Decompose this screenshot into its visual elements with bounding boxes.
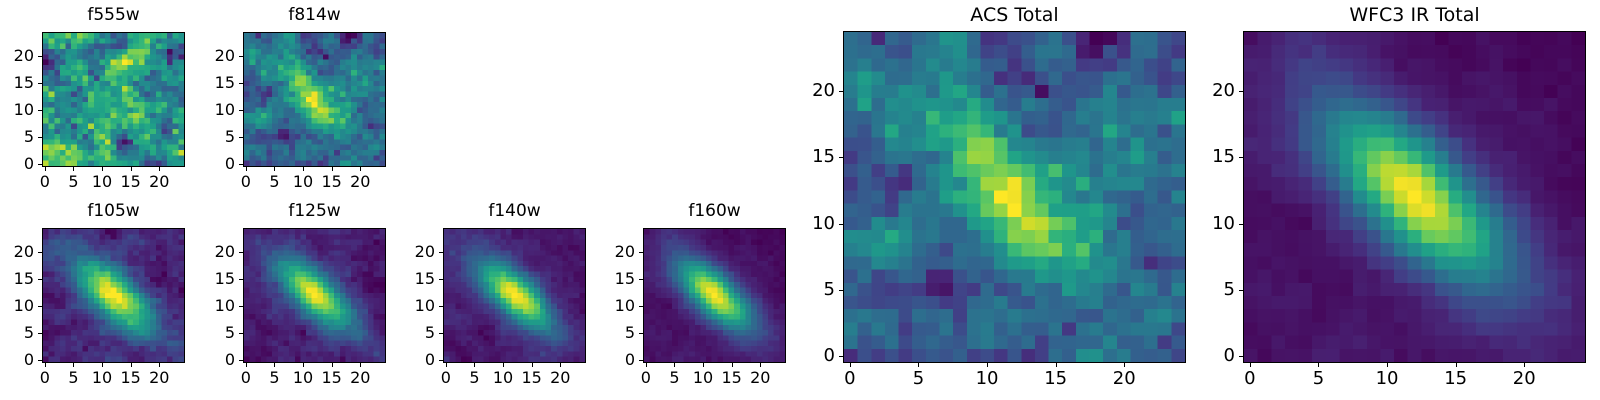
heatmap-image (244, 33, 385, 166)
y-tick-label: 10 (183, 102, 235, 118)
y-tick-mark (38, 279, 42, 280)
y-tick-label: 20 (583, 244, 635, 260)
x-tick-mark (73, 363, 74, 367)
x-tick-mark (474, 363, 475, 367)
x-tick-label: 15 (321, 174, 341, 190)
panel-title: f160w (643, 203, 786, 220)
y-tick-mark (639, 306, 643, 307)
x-tick-label: 15 (521, 370, 541, 386)
x-tick-label: 15 (1044, 370, 1067, 388)
x-tick-label: 0 (641, 370, 651, 386)
y-tick-mark (439, 306, 443, 307)
x-tick-mark (987, 363, 988, 367)
y-tick-mark (239, 306, 243, 307)
x-tick-mark (446, 363, 447, 367)
y-tick-mark (239, 360, 243, 361)
x-tick-mark (360, 363, 361, 367)
panel-title: f105w (42, 203, 185, 220)
y-tick-label: 5 (583, 325, 635, 341)
x-tick-mark (246, 363, 247, 367)
x-tick-label: 0 (1244, 370, 1255, 388)
y-tick-mark (239, 252, 243, 253)
x-tick-mark (560, 363, 561, 367)
heatmap-axes (42, 32, 185, 167)
y-tick-mark (1239, 157, 1243, 158)
y-tick-mark (38, 110, 42, 111)
y-tick-mark (239, 110, 243, 111)
y-tick-label: 20 (783, 82, 835, 100)
y-tick-label: 0 (783, 347, 835, 365)
y-tick-label: 10 (183, 298, 235, 314)
y-tick-mark (239, 83, 243, 84)
y-tick-mark (239, 333, 243, 334)
y-tick-label: 5 (183, 325, 235, 341)
y-tick-label: 0 (1183, 347, 1235, 365)
y-tick-mark (1239, 224, 1243, 225)
x-tick-label: 10 (293, 174, 313, 190)
x-tick-label: 0 (241, 370, 251, 386)
x-tick-label: 10 (976, 370, 999, 388)
heatmap-image (244, 229, 385, 362)
x-tick-label: 20 (149, 370, 169, 386)
y-tick-label: 10 (0, 298, 34, 314)
y-tick-label: 5 (183, 129, 235, 145)
x-tick-mark (1387, 363, 1388, 367)
panel-title: f555w (42, 7, 185, 24)
panel-title: f814w (243, 7, 386, 24)
y-tick-label: 15 (183, 271, 235, 287)
y-tick-mark (439, 279, 443, 280)
x-tick-label: 20 (750, 370, 770, 386)
x-tick-mark (274, 363, 275, 367)
y-tick-label: 0 (183, 352, 235, 368)
y-tick-label: 15 (583, 271, 635, 287)
x-tick-mark (45, 363, 46, 367)
y-tick-label: 5 (0, 325, 34, 341)
x-tick-label: 10 (693, 370, 713, 386)
figure-canvas: f555w0510152005101520f814w05101520051015… (0, 0, 1600, 400)
panel-title: WFC3 IR Total (1243, 6, 1586, 25)
heatmap-axes (42, 228, 185, 363)
x-tick-label: 0 (441, 370, 451, 386)
x-tick-label: 10 (92, 174, 112, 190)
heatmap-axes (243, 32, 386, 167)
x-tick-mark (1124, 363, 1125, 367)
x-tick-mark (1250, 363, 1251, 367)
x-tick-mark (732, 363, 733, 367)
y-tick-label: 20 (383, 244, 435, 260)
y-tick-mark (38, 360, 42, 361)
y-tick-label: 10 (0, 102, 34, 118)
y-tick-label: 0 (0, 352, 34, 368)
heatmap-image (43, 33, 184, 166)
heatmap-axes (643, 228, 786, 363)
x-tick-mark (360, 167, 361, 171)
y-tick-mark (439, 252, 443, 253)
y-tick-mark (439, 360, 443, 361)
x-tick-label: 10 (293, 370, 313, 386)
x-tick-label: 20 (350, 370, 370, 386)
x-tick-mark (159, 167, 160, 171)
x-tick-mark (1318, 363, 1319, 367)
y-tick-label: 0 (383, 352, 435, 368)
x-tick-label: 5 (669, 370, 679, 386)
x-tick-mark (246, 167, 247, 171)
y-tick-label: 15 (383, 271, 435, 287)
y-tick-label: 10 (783, 215, 835, 233)
y-tick-label: 0 (0, 156, 34, 172)
y-tick-mark (1239, 356, 1243, 357)
y-tick-label: 20 (183, 48, 235, 64)
panel-acs-total: ACS Total0510152005101520 (783, 3, 1186, 397)
x-tick-mark (131, 167, 132, 171)
heatmap-image (1244, 32, 1585, 362)
y-tick-mark (639, 333, 643, 334)
x-tick-mark (760, 363, 761, 367)
panel-f125w: f125w0510152005101520 (183, 200, 386, 397)
x-tick-mark (303, 167, 304, 171)
x-tick-mark (918, 363, 919, 367)
x-tick-label: 5 (269, 174, 279, 190)
y-tick-label: 5 (783, 281, 835, 299)
y-tick-label: 5 (383, 325, 435, 341)
panel-f814w: f814w0510152005101520 (183, 4, 386, 201)
x-tick-mark (532, 363, 533, 367)
x-tick-mark (674, 363, 675, 367)
y-tick-label: 20 (183, 244, 235, 260)
x-tick-mark (1456, 363, 1457, 367)
y-tick-mark (38, 56, 42, 57)
x-tick-label: 10 (1376, 370, 1399, 388)
x-tick-label: 20 (550, 370, 570, 386)
heatmap-image (43, 229, 184, 362)
y-tick-mark (839, 224, 843, 225)
y-tick-mark (38, 306, 42, 307)
x-tick-mark (332, 167, 333, 171)
x-tick-label: 10 (92, 370, 112, 386)
heatmap-image (844, 32, 1185, 362)
y-tick-mark (439, 333, 443, 334)
x-tick-label: 5 (469, 370, 479, 386)
y-tick-mark (38, 252, 42, 253)
x-tick-mark (703, 363, 704, 367)
y-tick-mark (38, 137, 42, 138)
heatmap-axes (443, 228, 586, 363)
x-tick-label: 0 (241, 174, 251, 190)
y-tick-mark (839, 356, 843, 357)
heatmap-axes (1243, 31, 1586, 363)
y-tick-mark (839, 290, 843, 291)
x-tick-label: 20 (350, 174, 370, 190)
panel-f105w: f105w0510152005101520 (0, 200, 185, 397)
panel-title: ACS Total (843, 6, 1186, 25)
x-tick-mark (303, 363, 304, 367)
x-tick-label: 5 (913, 370, 924, 388)
y-tick-label: 10 (583, 298, 635, 314)
y-tick-mark (839, 91, 843, 92)
y-tick-label: 10 (383, 298, 435, 314)
x-tick-label: 15 (1444, 370, 1467, 388)
panel-wfc3-ir-total: WFC3 IR Total0510152005101520 (1183, 3, 1586, 397)
x-tick-mark (503, 363, 504, 367)
panel-f140w: f140w0510152005101520 (383, 200, 586, 397)
x-tick-label: 5 (68, 370, 78, 386)
y-tick-label: 15 (783, 148, 835, 166)
y-tick-mark (1239, 290, 1243, 291)
y-tick-mark (239, 279, 243, 280)
x-tick-mark (850, 363, 851, 367)
y-tick-mark (839, 157, 843, 158)
heatmap-image (644, 229, 785, 362)
x-tick-mark (45, 167, 46, 171)
x-tick-label: 15 (721, 370, 741, 386)
y-tick-mark (239, 137, 243, 138)
panel-title: f125w (243, 203, 386, 220)
y-tick-mark (38, 333, 42, 334)
y-tick-mark (38, 83, 42, 84)
x-tick-mark (332, 363, 333, 367)
x-tick-mark (159, 363, 160, 367)
x-tick-label: 20 (1113, 370, 1136, 388)
x-tick-label: 0 (40, 370, 50, 386)
x-tick-label: 10 (493, 370, 513, 386)
x-tick-label: 15 (321, 370, 341, 386)
x-tick-label: 15 (120, 174, 140, 190)
heatmap-axes (243, 228, 386, 363)
y-tick-label: 0 (583, 352, 635, 368)
x-tick-mark (131, 363, 132, 367)
x-tick-mark (274, 167, 275, 171)
panel-title: f140w (443, 203, 586, 220)
x-tick-label: 0 (40, 174, 50, 190)
y-tick-label: 5 (1183, 281, 1235, 299)
x-tick-label: 15 (120, 370, 140, 386)
y-tick-label: 15 (0, 271, 34, 287)
y-tick-label: 10 (1183, 215, 1235, 233)
y-tick-mark (38, 164, 42, 165)
y-tick-label: 5 (0, 129, 34, 145)
x-tick-label: 20 (149, 174, 169, 190)
x-tick-label: 20 (1513, 370, 1536, 388)
x-tick-label: 5 (1313, 370, 1324, 388)
panel-f555w: f555w0510152005101520 (0, 4, 185, 201)
x-tick-mark (102, 363, 103, 367)
y-tick-mark (639, 252, 643, 253)
y-tick-label: 0 (183, 156, 235, 172)
x-tick-mark (73, 167, 74, 171)
x-tick-label: 0 (844, 370, 855, 388)
x-tick-mark (102, 167, 103, 171)
panel-f160w: f160w0510152005101520 (583, 200, 786, 397)
heatmap-axes (843, 31, 1186, 363)
y-tick-label: 15 (1183, 148, 1235, 166)
y-tick-label: 15 (0, 75, 34, 91)
y-tick-label: 20 (0, 48, 34, 64)
x-tick-label: 5 (269, 370, 279, 386)
y-tick-label: 15 (183, 75, 235, 91)
x-tick-mark (1056, 363, 1057, 367)
x-tick-mark (646, 363, 647, 367)
y-tick-mark (639, 360, 643, 361)
y-tick-mark (239, 56, 243, 57)
heatmap-image (444, 229, 585, 362)
y-tick-mark (239, 164, 243, 165)
y-tick-label: 20 (0, 244, 34, 260)
x-tick-label: 5 (68, 174, 78, 190)
y-tick-label: 20 (1183, 82, 1235, 100)
x-tick-mark (1524, 363, 1525, 367)
y-tick-mark (639, 279, 643, 280)
y-tick-mark (1239, 91, 1243, 92)
